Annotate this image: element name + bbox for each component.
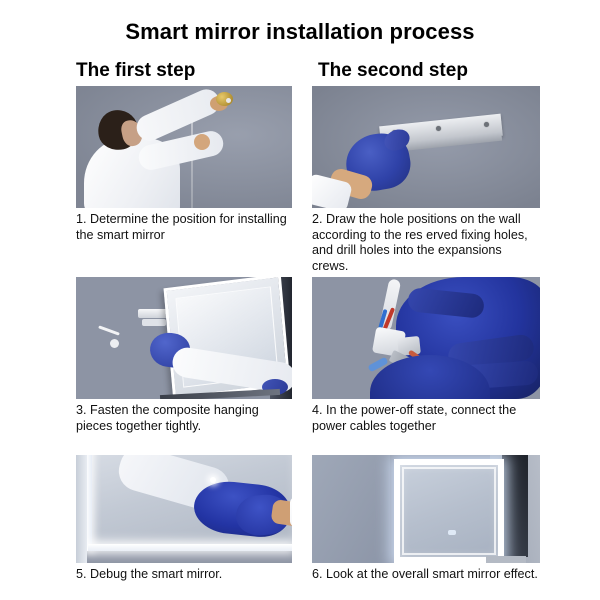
step-photo-4 bbox=[312, 277, 540, 399]
hanging-piece-lower bbox=[142, 319, 166, 326]
step-caption-4: 4. In the power-off state, connect the p… bbox=[312, 399, 540, 434]
dark-column bbox=[502, 455, 528, 557]
step-cell-1: 1. Determine the position for installing… bbox=[76, 86, 292, 243]
touch-highlight bbox=[210, 477, 216, 483]
mirror-frame-edge bbox=[76, 455, 87, 563]
bracket-hole-2 bbox=[436, 126, 441, 131]
step-caption-1: 1. Determine the position for installing… bbox=[76, 208, 292, 243]
wall-mark bbox=[226, 98, 231, 103]
technician-lower-hand bbox=[194, 134, 210, 150]
step-cell-5: 5. Debug the smart mirror. bbox=[76, 455, 292, 583]
step-cell-6: 6. Look at the overall smart mirror effe… bbox=[312, 455, 540, 583]
step-photo-1 bbox=[76, 86, 292, 208]
mirror-inner-glow bbox=[402, 467, 496, 555]
step-caption-3: 3. Fasten the composite hanging pieces t… bbox=[76, 399, 292, 434]
wall-left bbox=[312, 455, 390, 563]
shirt-cuff bbox=[290, 497, 292, 527]
step-cell-4: 4. In the power-off state, connect the p… bbox=[312, 277, 540, 434]
steps-grid: 1. Determine the position for installing… bbox=[0, 0, 600, 600]
led-strip-bottom bbox=[88, 544, 292, 551]
step-photo-3 bbox=[76, 277, 292, 399]
step-photo-2 bbox=[312, 86, 540, 208]
wall-anchor bbox=[98, 329, 122, 347]
floor-baseboard bbox=[486, 556, 526, 563]
step-caption-6: 6. Look at the overall smart mirror effe… bbox=[312, 563, 540, 583]
step-cell-2: 2. Draw the hole positions on the wall a… bbox=[312, 86, 540, 274]
touch-sensor-icon bbox=[448, 530, 456, 535]
step-cell-3: 3. Fasten the composite hanging pieces t… bbox=[76, 277, 292, 434]
step-caption-2: 2. Draw the hole positions on the wall a… bbox=[312, 208, 540, 274]
smart-mirror-installed bbox=[394, 459, 504, 563]
step-photo-5 bbox=[76, 455, 292, 563]
step-caption-5: 5. Debug the smart mirror. bbox=[76, 563, 292, 583]
installation-guide-page: Smart mirror installation process The fi… bbox=[0, 0, 600, 600]
step-photo-6 bbox=[312, 455, 540, 563]
bracket-hole-3 bbox=[484, 122, 489, 127]
